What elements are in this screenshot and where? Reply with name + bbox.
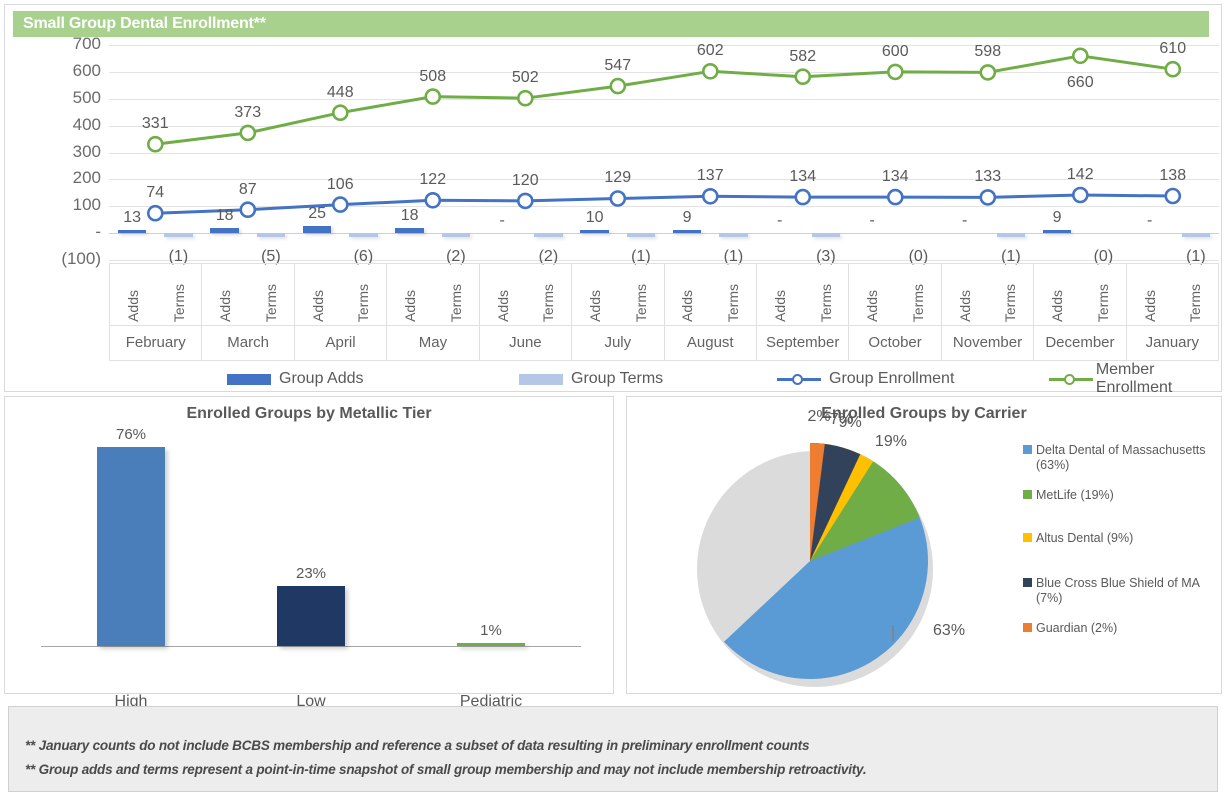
data-label: 10	[586, 209, 604, 227]
pie-legend-label: Altus Dental (9%)	[1036, 531, 1133, 546]
tier-bar-value: 1%	[480, 622, 502, 639]
y-axis-tick: 400	[9, 115, 101, 135]
pie-legend-label: Blue Cross Blue Shield of MA (7%)	[1036, 576, 1219, 607]
data-label: 9	[683, 209, 692, 227]
legend-label: Group Adds	[279, 370, 364, 388]
data-point-marker	[981, 65, 995, 79]
data-point-marker	[241, 126, 255, 140]
group-enrollment-label: 142	[1067, 166, 1094, 184]
group-adds-bar	[395, 228, 424, 233]
chart-legend: Group AddsGroup TermsGroup EnrollmentMem…	[109, 367, 1219, 391]
member-enrollment-label: 598	[974, 43, 1001, 61]
data-point-marker	[333, 198, 347, 212]
legend-label: Group Enrollment	[829, 370, 954, 388]
sub-category-terms: Terms	[433, 264, 479, 325]
baseline-axis	[41, 646, 581, 647]
footnote-box: ** January counts do not include BCBS me…	[8, 706, 1218, 792]
sub-category-terms: Terms	[710, 264, 756, 325]
sub-category-terms: Terms	[803, 264, 849, 325]
group-adds-bar	[210, 228, 239, 233]
month-column-may: AddsTermsMay	[387, 264, 479, 360]
page-title: Small Group Dental Enrollment**	[13, 11, 1209, 37]
metallic-tier-plot: 76%High23%Low1%Pediatric	[41, 437, 581, 647]
month-label: April	[295, 326, 386, 360]
group-terms-bar	[534, 233, 563, 237]
legend-item-group-terms[interactable]: Group Terms	[519, 370, 663, 388]
month-column-january: AddsTermsJanuary	[1127, 264, 1218, 360]
pie-slice-label: 2%	[807, 408, 830, 426]
y-axis-tick: 200	[9, 168, 101, 188]
tier-bar-value: 23%	[296, 565, 326, 582]
series-lines	[109, 45, 1219, 260]
pie-plot: 63%19%9%7%2%	[685, 439, 935, 679]
legend-swatch	[1049, 373, 1088, 385]
month-label: February	[110, 326, 201, 360]
member-enrollment-label: 373	[234, 104, 261, 122]
pie-legend-item[interactable]: Delta Dental of Massachusetts (63%)	[1023, 443, 1219, 474]
group-enrollment-label: 134	[882, 168, 909, 186]
data-label: -	[499, 212, 504, 230]
data-label: -	[1147, 212, 1152, 230]
sub-category-adds: Adds	[665, 264, 711, 325]
month-label: June	[480, 326, 571, 360]
sub-category-terms: Terms	[156, 264, 202, 325]
member-enrollment-label: 602	[697, 42, 724, 60]
legend-item-group-adds[interactable]: Group Adds	[227, 370, 364, 388]
sub-category-adds: Adds	[1127, 264, 1173, 325]
data-point-marker	[518, 91, 532, 105]
y-axis-tick: 100	[9, 195, 101, 215]
legend-label: Member Enrollment	[1096, 361, 1219, 397]
month-label: March	[202, 326, 293, 360]
sub-category-adds: Adds	[757, 264, 803, 325]
group-enrollment-label: 138	[1159, 167, 1186, 185]
member-enrollment-label: 547	[604, 57, 631, 75]
data-label: 25	[308, 205, 326, 223]
carrier-pie-panel: Enrolled Groups by Carrier 63%19%9%7%2% …	[626, 396, 1222, 694]
data-point-marker	[426, 90, 440, 104]
pie-slice-label: 7%	[830, 411, 853, 429]
group-enrollment-label: 134	[789, 168, 816, 186]
pie-slice-label: 19%	[875, 433, 907, 451]
sub-category-adds: Adds	[202, 264, 248, 325]
y-axis-tick: -	[9, 222, 101, 242]
group-terms-bar	[442, 233, 471, 237]
metallic-tier-panel: Enrolled Groups by Metallic Tier 76%High…	[4, 396, 614, 694]
sub-category-adds: Adds	[1034, 264, 1080, 325]
sub-category-adds: Adds	[387, 264, 433, 325]
tier-bar-value: 76%	[116, 426, 146, 443]
data-label: 18	[401, 207, 419, 225]
member-enrollment-label: 448	[327, 84, 354, 102]
legend-swatch	[519, 374, 563, 385]
sub-category-terms: Terms	[895, 264, 941, 325]
pie-legend: Delta Dental of Massachusetts (63%)MetLi…	[1023, 443, 1219, 650]
pie-legend-item[interactable]: Guardian (2%)	[1023, 621, 1219, 636]
sub-category-adds: Adds	[110, 264, 156, 325]
member-enrollment-label: 660	[1067, 74, 1094, 92]
month-label: December	[1034, 326, 1125, 360]
data-label: 9	[1053, 209, 1062, 227]
member-enrollment-label: 610	[1159, 40, 1186, 58]
group-enrollment-label: 122	[419, 171, 446, 189]
enrollment-plot-area: 13182518-109---9-(1)(5)(6)(2)(2)(1)(1)(3…	[109, 45, 1219, 260]
month-label: July	[572, 326, 663, 360]
member-enrollment-label: 508	[419, 68, 446, 86]
sub-category-terms: Terms	[988, 264, 1034, 325]
metallic-tier-title: Enrolled Groups by Metallic Tier	[5, 405, 613, 423]
group-enrollment-label: 74	[146, 184, 164, 202]
group-enrollment-label: 137	[697, 167, 724, 185]
group-terms-bar	[719, 233, 748, 237]
data-point-marker	[703, 64, 717, 78]
y-axis-tick: 600	[9, 61, 101, 81]
tier-bar-low	[277, 586, 345, 646]
data-label: -	[962, 212, 967, 230]
month-column-september: AddsTermsSeptember	[757, 264, 849, 360]
tier-bar-high	[97, 447, 165, 647]
enrollment-chart-panel: Small Group Dental Enrollment** 13182518…	[4, 4, 1222, 392]
month-label: May	[387, 326, 478, 360]
sub-category-terms: Terms	[248, 264, 294, 325]
data-point-marker	[796, 70, 810, 84]
group-adds-bar	[1043, 230, 1072, 234]
legend-swatch	[777, 373, 821, 385]
pie-svg	[685, 439, 935, 679]
data-point-marker	[611, 192, 625, 206]
pie-legend-swatch	[1023, 445, 1032, 454]
pie-legend-item[interactable]: Blue Cross Blue Shield of MA (7%)	[1023, 576, 1219, 607]
member-enrollment-label: 502	[512, 69, 539, 87]
month-label: January	[1127, 326, 1218, 360]
pie-legend-swatch	[1023, 533, 1032, 542]
sub-category-terms: Terms	[618, 264, 664, 325]
legend-label: Group Terms	[571, 370, 663, 388]
data-point-marker	[703, 189, 717, 203]
data-point-marker	[333, 106, 347, 120]
sub-category-terms: Terms	[1080, 264, 1126, 325]
data-point-marker	[1166, 189, 1180, 203]
group-enrollment-label: 129	[604, 169, 631, 187]
pie-legend-label: Guardian (2%)	[1036, 621, 1117, 636]
month-label: October	[849, 326, 940, 360]
data-point-marker	[1073, 188, 1087, 202]
group-terms-bar	[257, 233, 286, 237]
month-column-december: AddsTermsDecember	[1034, 264, 1126, 360]
group-terms-bar	[349, 233, 378, 237]
member-enrollment-line	[155, 56, 1173, 144]
month-column-february: AddsTermsFebruary	[110, 264, 202, 360]
category-axis: AddsTermsFebruaryAddsTermsMarchAddsTerms…	[109, 263, 1219, 361]
pie-legend-label: Delta Dental of Massachusetts (63%)	[1036, 443, 1219, 474]
sub-category-adds: Adds	[572, 264, 618, 325]
month-column-april: AddsTermsApril	[295, 264, 387, 360]
pie-legend-swatch	[1023, 578, 1032, 587]
y-axis-tick: 500	[9, 88, 101, 108]
footnote-line-2: ** Group adds and terms represent a poin…	[25, 762, 866, 777]
month-column-june: AddsTermsJune	[480, 264, 572, 360]
data-label: 18	[216, 207, 234, 225]
month-column-august: AddsTermsAugust	[665, 264, 757, 360]
group-enrollment-label: 133	[974, 168, 1001, 186]
group-terms-bar	[1182, 233, 1211, 237]
group-terms-bar	[812, 233, 841, 237]
sub-category-adds: Adds	[480, 264, 526, 325]
member-enrollment-label: 600	[882, 43, 909, 61]
group-terms-bar	[164, 233, 193, 237]
month-label: September	[757, 326, 848, 360]
month-label: August	[665, 326, 756, 360]
data-point-marker	[148, 206, 162, 220]
y-axis-tick: 700	[9, 34, 101, 54]
month-column-october: AddsTermsOctober	[849, 264, 941, 360]
group-terms-bar	[997, 233, 1026, 237]
tier-bar-pediatric	[457, 643, 525, 646]
data-point-marker	[888, 65, 902, 79]
pie-legend-label: MetLife (19%)	[1036, 488, 1114, 503]
sub-category-terms: Terms	[341, 264, 387, 325]
data-point-marker	[518, 194, 532, 208]
data-point-marker	[981, 190, 995, 204]
carrier-pie-title: Enrolled Groups by Carrier	[627, 405, 1221, 423]
sub-category-adds: Adds	[942, 264, 988, 325]
data-label: -	[869, 212, 874, 230]
group-enrollment-label: 120	[512, 172, 539, 190]
data-point-marker	[426, 193, 440, 207]
pie-legend-item[interactable]: MetLife (19%)	[1023, 488, 1219, 503]
data-point-marker	[611, 79, 625, 93]
month-column-july: AddsTermsJuly	[572, 264, 664, 360]
pie-legend-item[interactable]: Altus Dental (9%)	[1023, 531, 1219, 546]
data-point-marker	[888, 190, 902, 204]
y-axis-tick: 300	[9, 142, 101, 162]
sub-category-adds: Adds	[849, 264, 895, 325]
group-enrollment-label: 106	[327, 176, 354, 194]
data-point-marker	[796, 190, 810, 204]
legend-swatch	[227, 374, 271, 385]
sub-category-terms: Terms	[1172, 264, 1218, 325]
month-column-november: AddsTermsNovember	[942, 264, 1034, 360]
pie-legend-swatch	[1023, 490, 1032, 499]
group-adds-bar	[580, 230, 609, 234]
member-enrollment-label: 582	[789, 48, 816, 66]
group-adds-bar	[673, 230, 702, 234]
pie-legend-swatch	[1023, 623, 1032, 632]
footnote-line-1: ** January counts do not include BCBS me…	[25, 738, 809, 753]
data-point-marker	[1073, 49, 1087, 63]
pie-slice-label: 63%	[933, 622, 965, 640]
month-column-march: AddsTermsMarch	[202, 264, 294, 360]
sub-category-adds: Adds	[295, 264, 341, 325]
data-point-marker	[241, 203, 255, 217]
group-enrollment-label: 87	[239, 181, 257, 199]
data-point-marker	[148, 137, 162, 151]
y-axis-tick: (100)	[9, 249, 101, 269]
data-label: -	[777, 212, 782, 230]
data-label: 13	[123, 209, 141, 227]
group-terms-bar	[627, 233, 656, 237]
member-enrollment-label: 331	[142, 115, 169, 133]
sub-category-terms: Terms	[525, 264, 571, 325]
legend-item-member-enrollment[interactable]: Member Enrollment	[1049, 361, 1219, 397]
month-label: November	[942, 326, 1033, 360]
group-adds-bar	[303, 226, 332, 233]
legend-item-group-enrollment[interactable]: Group Enrollment	[777, 370, 954, 388]
group-adds-bar	[118, 230, 147, 234]
data-point-marker	[1166, 62, 1180, 76]
